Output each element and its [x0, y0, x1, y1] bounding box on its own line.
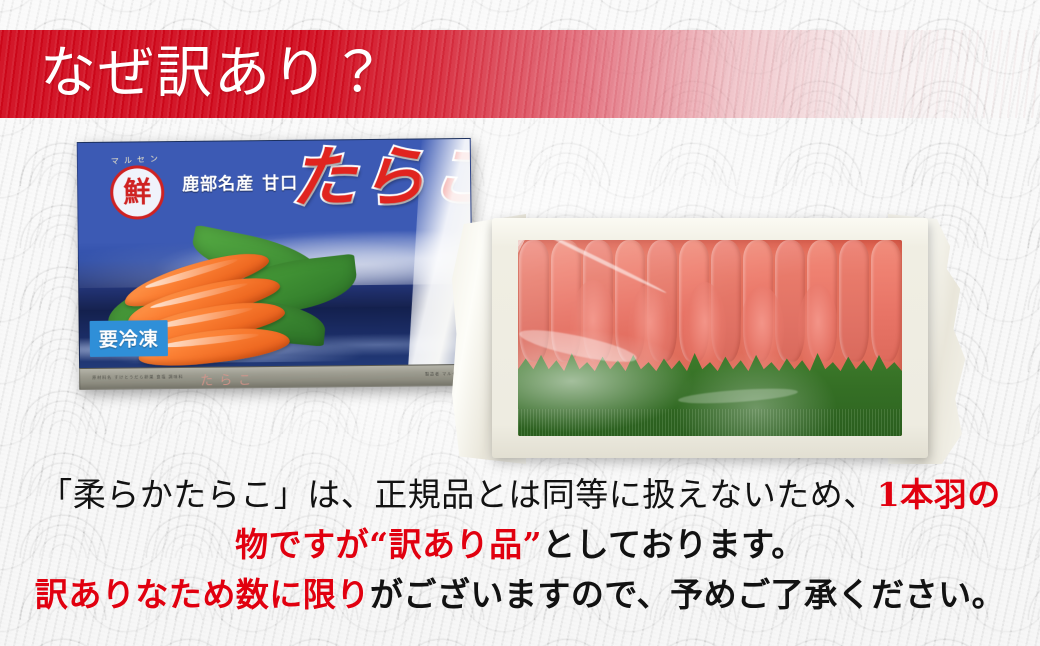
roe-highlight — [684, 282, 726, 376]
grass-ridges — [518, 409, 902, 436]
seal-character: 鮮 — [123, 178, 151, 206]
box-fine-print-left: 原材料名 すけとうだら卵巣 食塩 調味料 — [92, 374, 183, 381]
box-edge-name: たらこ — [200, 369, 257, 389]
copy-line-2: 物ですが“訳あり品”としております。 — [0, 520, 1040, 570]
roe-highlight — [570, 280, 616, 376]
description-copy: 「柔らかたらこ」は、正規品とは同等に扱えないため、1本羽の 物ですが“訳あり品”… — [0, 470, 1040, 620]
roe-highlight — [740, 286, 784, 374]
product-box-front: マルセン 鮮 鹿部名産甘口 たらこ 要冷凍 — [77, 138, 473, 370]
page-title: なぜ訳あり？ — [40, 30, 388, 118]
copy-line-2-highlight: 物ですが“訳あり品” — [235, 525, 542, 564]
brand-seal-icon: 鮮 — [110, 165, 165, 220]
copy-line-3-plain: がございますので、予めご了承ください。 — [370, 575, 1005, 614]
copy-line-3: 訳ありなため数に限りがございますので、予めご了承ください。 — [0, 570, 1040, 620]
roe-piece — [839, 240, 869, 362]
copy-line-2-plain: としております。 — [542, 525, 805, 564]
storage-badge: 要冷凍 — [90, 320, 168, 357]
package-tray — [492, 218, 928, 458]
tarako-package — [452, 214, 972, 464]
box-origin-label: 鹿部名産 — [182, 174, 254, 195]
copy-line-3-highlight: 訳ありなため数に限り — [35, 575, 370, 614]
copy-line-1-highlight: 1本羽の — [877, 475, 1001, 514]
copy-line-1-plain: 「柔らかたらこ」は、正規品とは同等に扱えないため、 — [39, 475, 877, 514]
box-origin-line: 鹿部名産甘口 — [182, 169, 298, 195]
product-box: マルセン 鮮 鹿部名産甘口 たらこ 要冷凍 原材料名 すけとうだら卵巣 食塩 調… — [77, 138, 474, 390]
brand-logo: マルセン 鮮 — [104, 156, 169, 219]
copy-line-1: 「柔らかたらこ」は、正規品とは同等に扱えないため、1本羽の — [0, 470, 1040, 520]
product-box-bottom-edge: 原材料名 すけとうだら卵巣 食塩 調味料 たらこ 製造者 マルセン — [79, 364, 473, 390]
roe-piece — [871, 240, 901, 362]
package-contents — [518, 240, 902, 436]
promo-page: なぜ訳あり？ マルセン 鮮 鹿部名産甘口 たらこ — [0, 0, 1040, 646]
